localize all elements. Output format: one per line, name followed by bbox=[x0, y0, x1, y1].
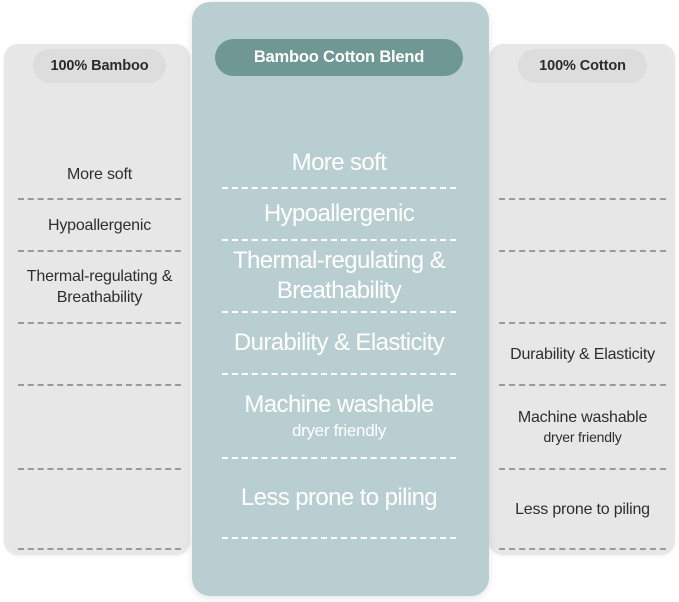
feature-row-empty bbox=[499, 200, 666, 252]
feature-label: More soft bbox=[292, 148, 387, 178]
feature-sublabel: dryer friendly bbox=[292, 420, 386, 442]
panel-100-cotton-badge-label: 100% Cotton bbox=[539, 58, 626, 74]
feature-label: Machine washable bbox=[244, 390, 433, 420]
panel-bamboo-cotton-blend-badge: Bamboo Cotton Blend bbox=[215, 39, 463, 76]
feature-row: Durability & Elasticity bbox=[222, 313, 456, 375]
feature-label: Hypoallergenic bbox=[48, 215, 151, 236]
feature-row: Less prone to piling bbox=[499, 470, 666, 550]
feature-label: Durability & Elasticity bbox=[234, 328, 444, 358]
feature-row: Thermal-regulating & Breathability bbox=[18, 252, 181, 324]
feature-label: Durability & Elasticity bbox=[510, 344, 655, 365]
feature-row: Durability & Elasticity bbox=[499, 324, 666, 386]
feature-row: Machine washable dryer friendly bbox=[499, 386, 666, 470]
feature-label: Hypoallergenic bbox=[264, 199, 414, 229]
feature-row: Machine washable dryer friendly bbox=[222, 375, 456, 459]
feature-row: Hypoallergenic bbox=[222, 189, 456, 241]
feature-row-empty bbox=[18, 386, 181, 470]
feature-row-empty bbox=[499, 150, 666, 200]
feature-row: Less prone to piling bbox=[222, 459, 456, 539]
feature-label: More soft bbox=[67, 164, 132, 185]
panel-100-cotton-badge: 100% Cotton bbox=[518, 49, 647, 83]
feature-label: Thermal-regulating & Breathability bbox=[20, 266, 179, 308]
comparison-chart: 100% Bamboo More soft Hypoallergenic The… bbox=[0, 0, 679, 602]
feature-sublabel: dryer friendly bbox=[543, 428, 621, 447]
feature-row: More soft bbox=[18, 150, 181, 200]
feature-label: Machine washable bbox=[518, 407, 647, 428]
feature-label: Less prone to piling bbox=[515, 499, 650, 520]
panel-100-bamboo-badge-label: 100% Bamboo bbox=[50, 58, 148, 74]
feature-row: Hypoallergenic bbox=[18, 200, 181, 252]
panel-bamboo-cotton-blend-badge-label: Bamboo Cotton Blend bbox=[254, 48, 424, 67]
feature-row-empty bbox=[18, 470, 181, 550]
panel-bamboo-cotton-blend-rows: More soft Hypoallergenic Thermal-regulat… bbox=[222, 139, 456, 539]
feature-row: More soft bbox=[222, 139, 456, 189]
feature-label: Thermal-regulating & Breathability bbox=[222, 246, 456, 306]
feature-row-empty bbox=[499, 252, 666, 324]
panel-100-bamboo-rows: More soft Hypoallergenic Thermal-regulat… bbox=[18, 150, 181, 550]
panel-100-cotton-rows: Durability & Elasticity Machine washable… bbox=[499, 150, 666, 550]
panel-100-bamboo-badge: 100% Bamboo bbox=[33, 49, 166, 83]
feature-row: Thermal-regulating & Breathability bbox=[222, 241, 456, 313]
feature-row-empty bbox=[18, 324, 181, 386]
feature-label: Less prone to piling bbox=[241, 483, 437, 513]
